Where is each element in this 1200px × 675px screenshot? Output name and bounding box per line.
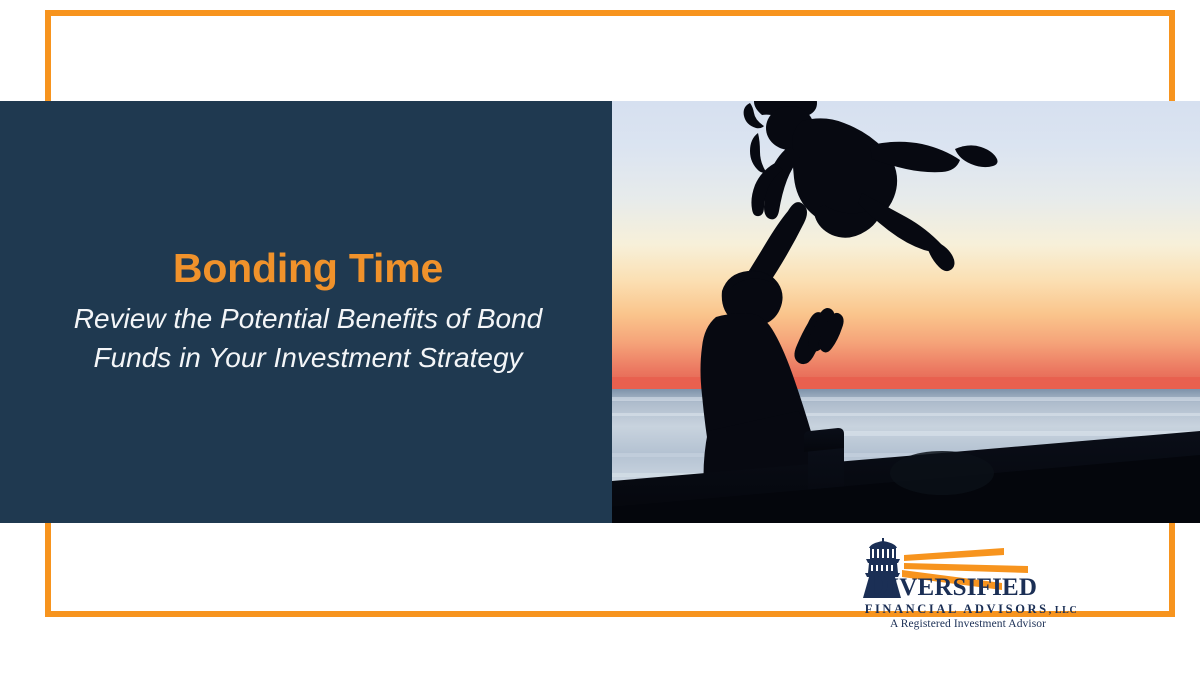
frame-border-top — [45, 10, 1175, 16]
beach-sunset-illustration — [612, 101, 1200, 523]
logo-subline-llc: , LLC — [1049, 605, 1078, 616]
background-blur-shape — [890, 451, 994, 495]
slide-title: Bonding Time — [173, 246, 443, 292]
logo-wordmark-initial: D — [866, 566, 889, 602]
logo-wordmark-rest: IVERSIFIED — [889, 574, 1037, 601]
logo-subline-main: FINANCIAL ADVISORS — [865, 602, 1049, 616]
slide-subtitle: Review the Potential Benefits of Bond Fu… — [62, 300, 554, 377]
company-logo: DIVERSIFIED FINANCIAL ADVISORS, LLC A Re… — [852, 536, 1084, 632]
slide-canvas: Bonding Time Review the Potential Benefi… — [0, 0, 1200, 675]
title-panel: Bonding Time Review the Potential Benefi… — [0, 101, 612, 523]
logo-wordmark: DIVERSIFIED — [866, 568, 1084, 600]
logo-tagline: A Registered Investment Advisor — [852, 618, 1084, 630]
hero-photo — [612, 101, 1200, 523]
logo-subline: FINANCIAL ADVISORS, LLC — [858, 602, 1084, 617]
